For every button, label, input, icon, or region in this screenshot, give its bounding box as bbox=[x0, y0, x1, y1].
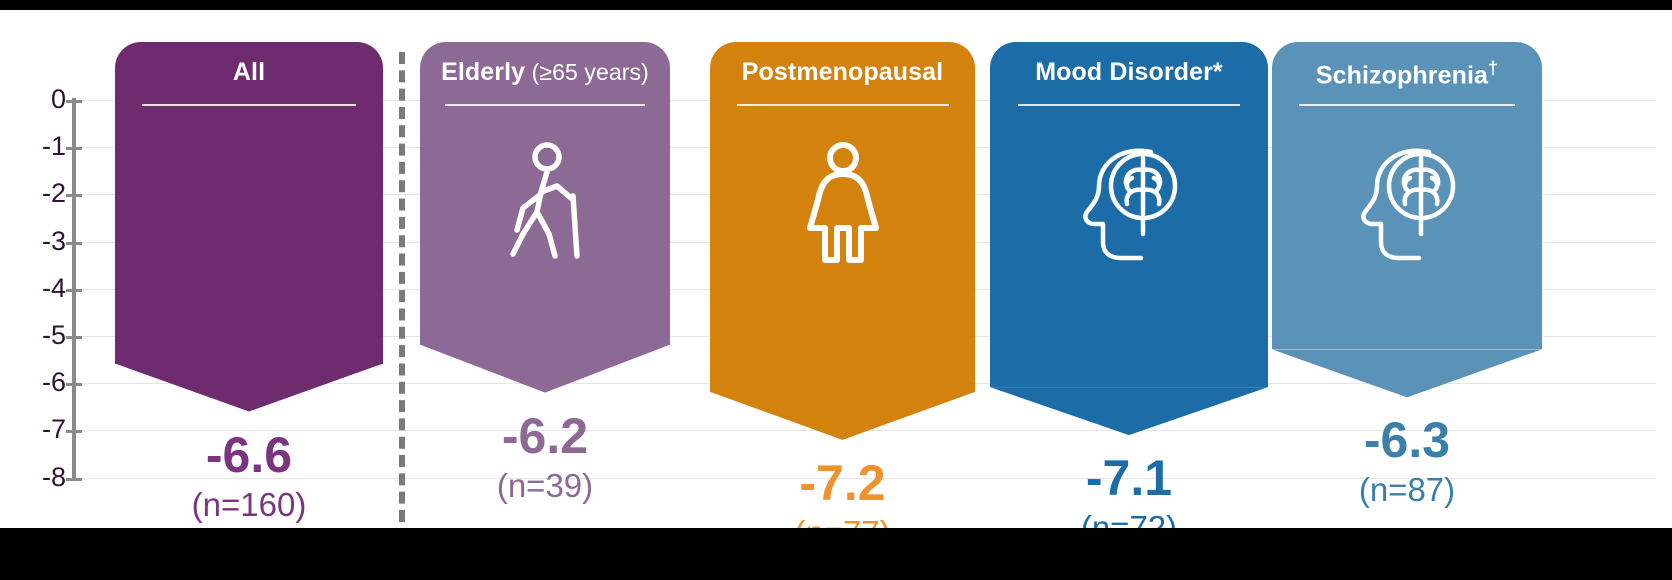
elderly-walking-icon bbox=[497, 142, 593, 265]
y-axis-tick-label: -2 bbox=[20, 180, 66, 207]
y-axis-tick bbox=[66, 100, 82, 103]
brain-head-icon bbox=[1355, 142, 1459, 269]
group-separator-dashed bbox=[399, 52, 405, 522]
bar-count-label: (n=160) bbox=[115, 488, 383, 521]
bar-value-label: -7.1 bbox=[990, 453, 1268, 503]
bar-value-label: -6.3 bbox=[1272, 415, 1542, 465]
y-axis-tick-label: -4 bbox=[20, 275, 66, 302]
bar-title-underline bbox=[1018, 104, 1240, 106]
bar-title: Elderly (≥65 years) bbox=[420, 58, 670, 87]
bar-title-main: Elderly bbox=[441, 58, 525, 86]
bar-value-label: -6.6 bbox=[115, 430, 383, 480]
bar-pointer bbox=[420, 345, 670, 393]
bar-title: All bbox=[115, 58, 383, 87]
bar-title-main: All bbox=[233, 58, 265, 86]
y-axis-labels: 0-1-2-3-4-5-6-7-8 bbox=[14, 10, 66, 528]
bar-title-footnote-marker: † bbox=[1488, 58, 1498, 78]
bar-count-label: (n=39) bbox=[420, 469, 670, 502]
bar-title-underline bbox=[737, 104, 949, 106]
bar-title-underline bbox=[445, 104, 645, 106]
y-axis-tick-label: -6 bbox=[20, 369, 66, 396]
bar-count-label: (n=87) bbox=[1272, 473, 1542, 506]
y-axis-tick bbox=[66, 336, 82, 339]
bar-postmenopausal[interactable]: Postmenopausal bbox=[710, 42, 975, 440]
bar-pointer bbox=[710, 392, 975, 440]
y-axis-tick-label: -5 bbox=[20, 322, 66, 349]
bar-pointer bbox=[1272, 349, 1542, 397]
bar-title-main: Mood Disorder* bbox=[1035, 58, 1223, 86]
bar-schizophrenia[interactable]: Schizophrenia† bbox=[1272, 42, 1542, 397]
y-axis-tick bbox=[66, 430, 82, 433]
bar-all[interactable]: All bbox=[115, 42, 383, 412]
bar-count-label: (n=72) bbox=[990, 511, 1268, 528]
y-axis-tick-label: 0 bbox=[20, 86, 66, 113]
bar-pointer bbox=[115, 364, 383, 412]
bar-elderly[interactable]: Elderly (≥65 years) bbox=[420, 42, 670, 393]
bar-title-sub: (≥65 years) bbox=[525, 59, 649, 85]
y-axis-tick-label: -1 bbox=[20, 133, 66, 160]
y-axis-tick bbox=[66, 478, 82, 481]
bar-body bbox=[115, 42, 383, 364]
bar-pointer bbox=[990, 387, 1268, 435]
female-figure-icon bbox=[797, 142, 889, 269]
bar-title-main: Postmenopausal bbox=[742, 58, 943, 86]
bar-title-underline bbox=[1299, 104, 1515, 106]
y-axis-tick bbox=[66, 289, 82, 292]
y-axis-tick bbox=[66, 383, 82, 386]
bar-title-main: Schizophrenia bbox=[1316, 61, 1488, 89]
bar-value-label: -6.2 bbox=[420, 411, 670, 461]
bar-count-label: (n=77) bbox=[710, 516, 975, 528]
bar-value-label: -7.2 bbox=[710, 458, 975, 508]
y-axis-tick bbox=[66, 147, 82, 150]
y-axis-tick bbox=[66, 242, 82, 245]
y-axis-tick-label: -7 bbox=[20, 416, 66, 443]
chart-stage: 0-1-2-3-4-5-6-7-8 AllElderly (≥65 years)… bbox=[0, 0, 1672, 580]
bar-title: Schizophrenia† bbox=[1272, 58, 1542, 90]
y-axis-tick bbox=[66, 194, 82, 197]
y-axis-tick-label: -3 bbox=[20, 228, 66, 255]
bar-title: Mood Disorder* bbox=[990, 58, 1268, 87]
y-axis-tick-label: -8 bbox=[20, 464, 66, 491]
chart-canvas: 0-1-2-3-4-5-6-7-8 AllElderly (≥65 years)… bbox=[0, 10, 1672, 528]
bar-mood-disorder[interactable]: Mood Disorder* bbox=[990, 42, 1268, 435]
bar-title-underline bbox=[142, 104, 356, 106]
brain-head-icon bbox=[1077, 142, 1181, 269]
bar-separator-white bbox=[1269, 50, 1272, 380]
bar-title: Postmenopausal bbox=[710, 58, 975, 87]
